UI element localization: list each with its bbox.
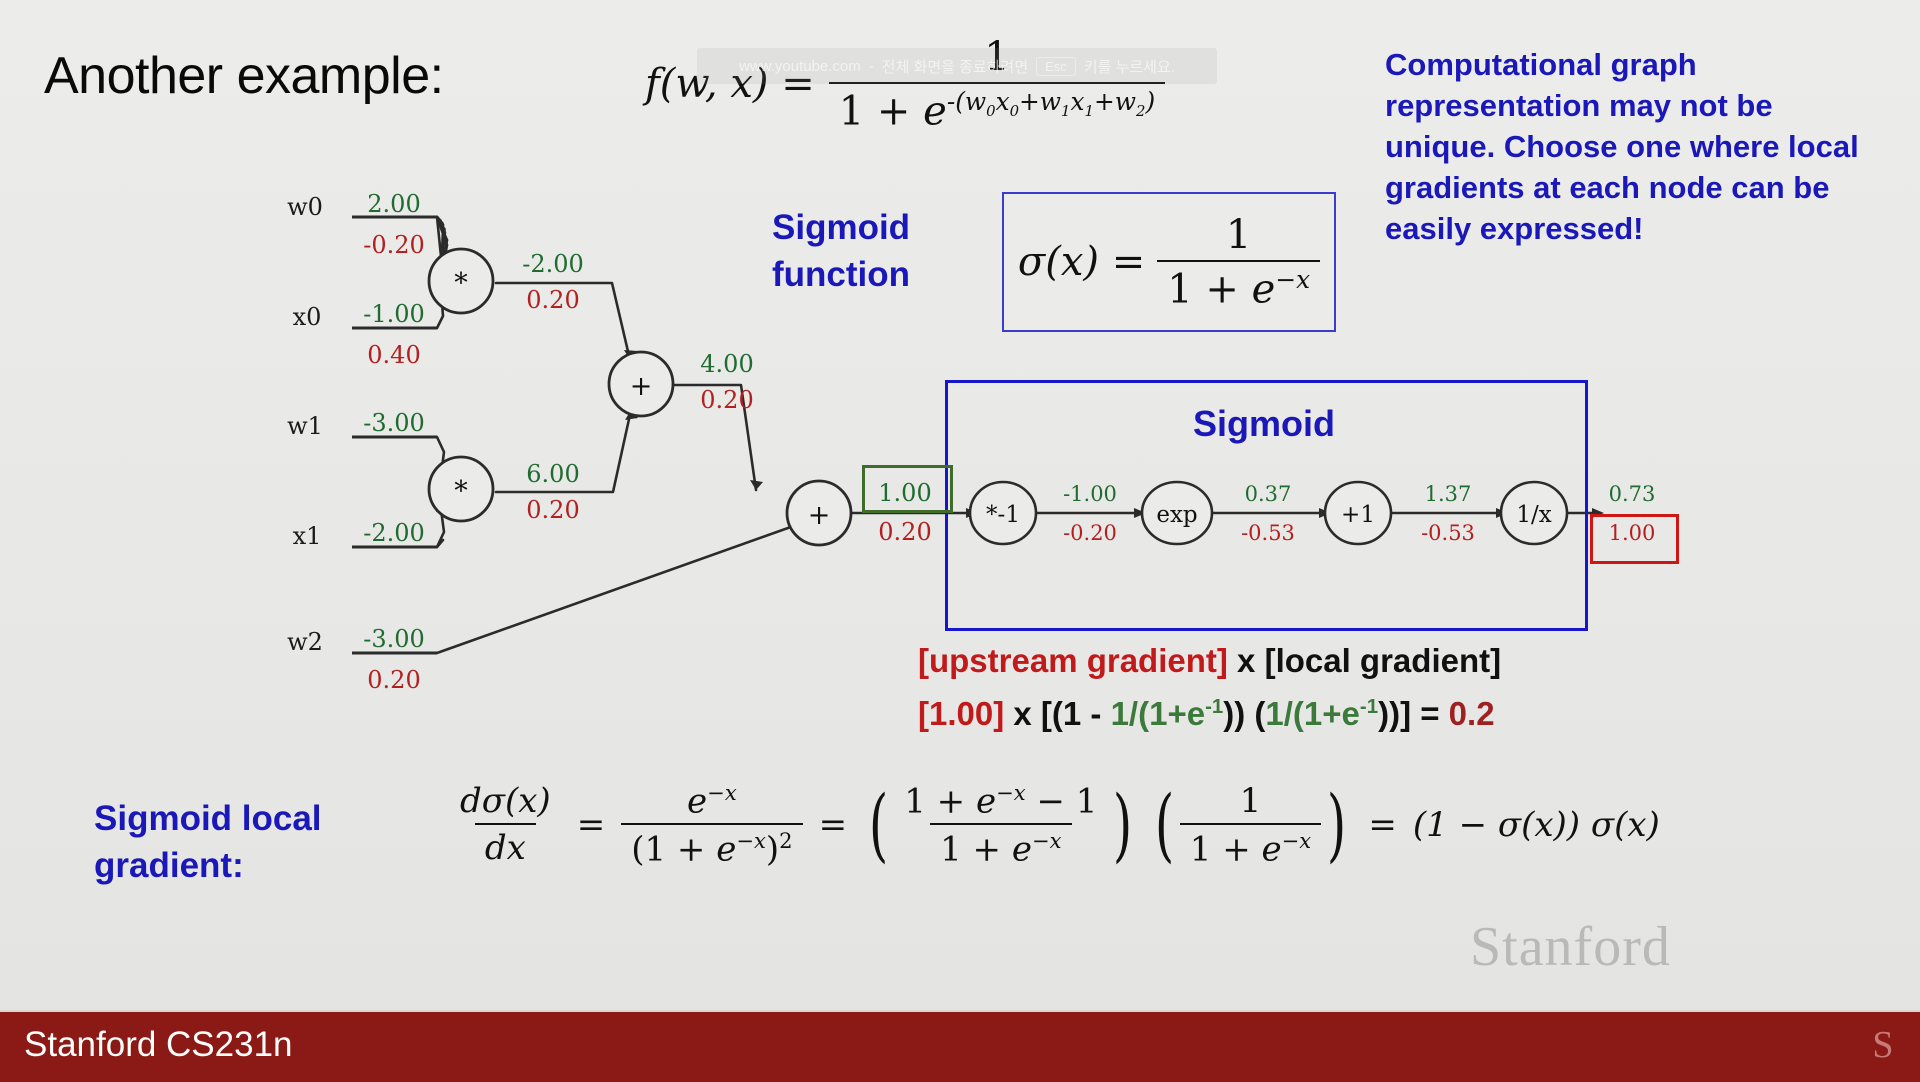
slg-lhs-num: dσ(x) xyxy=(450,781,561,823)
slg-eq-1: = xyxy=(577,805,606,845)
gradient-expr-close: ))] = xyxy=(1378,695,1449,732)
gradient-line1: [upstream gradient] x [local gradient] xyxy=(918,638,1748,684)
input-label-w0: w0 xyxy=(287,193,323,221)
footer-course-title: Stanford CS231n xyxy=(24,1025,293,1065)
slg-p1-den: 1 + e−x xyxy=(930,823,1071,869)
input-gradient-x0: 0.40 xyxy=(367,341,420,369)
slg-p2-num: 1 xyxy=(1230,781,1272,823)
gradient-times-1: x xyxy=(1228,642,1265,679)
node-add1-op: + xyxy=(808,500,831,531)
slg-paren-open-2: ( xyxy=(1155,793,1174,857)
upstream-gradient-label: [upstream gradient] xyxy=(918,642,1228,679)
highlight-box-green xyxy=(862,465,953,513)
local-term-2-sup: -1 xyxy=(1360,695,1378,718)
slg-p2-den: 1 + e−x xyxy=(1180,823,1321,869)
input-label-x0: x0 xyxy=(293,303,322,331)
node-mul1-op: * xyxy=(454,476,468,507)
edge-gradient-add0: 0.20 xyxy=(700,386,753,414)
gradient-line2: [1.00] x [(1 - 1/(1+e-1)) (1/(1+e-1))] =… xyxy=(918,684,1748,737)
sigmoid-local-gradient-label: Sigmoid local gradient: xyxy=(94,795,322,889)
slg-paren-open-1: ( xyxy=(869,793,888,857)
local-gradient-label: [local gradient] xyxy=(1265,642,1502,679)
slg-p1-num: 1 + e−x − 1 xyxy=(894,780,1107,823)
input-value-x1: -2.00 xyxy=(363,519,425,547)
edge-gradient-add1: 0.20 xyxy=(878,518,931,546)
node-mul0-op: * xyxy=(454,268,468,299)
slg-mid-num: e−x xyxy=(677,780,747,823)
stanford-logo-icon: S xyxy=(1870,1018,1896,1072)
slg-label-line1: Sigmoid local xyxy=(94,795,322,842)
stanford-wordmark: Stanford xyxy=(1470,915,1671,979)
slg-result: (1 − σ(x)) σ(x) xyxy=(1413,805,1660,845)
edge-value-mul0: -2.00 xyxy=(522,250,584,278)
slide-canvas: Another example: f(w, x) = 1 1 + e-(w0x0… xyxy=(0,0,1920,1010)
local-term-2-base: 1/(1+e xyxy=(1265,695,1360,732)
upstream-value: [1.00] xyxy=(918,695,1004,732)
input-label-x1: x1 xyxy=(293,522,322,550)
node-add0-op: + xyxy=(630,371,653,402)
edge-gradient-mul1: 0.20 xyxy=(526,496,579,524)
local-term-2: 1/(1+e-1 xyxy=(1265,695,1378,732)
input-value-w2: -3.00 xyxy=(363,625,425,653)
local-term-1-sup: -1 xyxy=(1205,695,1223,718)
sigmoid-local-gradient-formula: dσ(x) dx = e−x (1 + e−x)2 = ( 1 + e−x − … xyxy=(450,780,1660,870)
slg-paren-close-2: ) xyxy=(1327,793,1346,857)
gradient-expr-mid: )) ( xyxy=(1223,695,1265,732)
local-term-1-base: 1/(1+e xyxy=(1111,695,1206,732)
input-label-w1: w1 xyxy=(287,412,323,440)
local-term-1: 1/(1+e-1 xyxy=(1111,695,1224,732)
sigmoid-box-title: Sigmoid xyxy=(1193,403,1335,445)
edge-value-mul1: 6.00 xyxy=(526,460,579,488)
input-value-w0: 2.00 xyxy=(367,190,420,218)
gradient-explanation: [upstream gradient] x [local gradient] [… xyxy=(918,638,1748,737)
input-value-x0: -1.00 xyxy=(363,300,425,328)
slg-mid-den: (1 + e−x)2 xyxy=(621,823,802,869)
gradient-expr-open: x [(1 - xyxy=(1004,695,1110,732)
edge-gradient-mul0: 0.20 xyxy=(526,286,579,314)
input-label-w2: w2 xyxy=(287,628,323,656)
slg-eq-3: = xyxy=(1368,805,1397,845)
slg-eq-2: = xyxy=(819,805,848,845)
slg-lhs-den: dx xyxy=(475,823,536,868)
slg-paren-close-1: ) xyxy=(1113,793,1132,857)
gradient-result: 0.2 xyxy=(1449,695,1495,732)
input-gradient-w2: 0.20 xyxy=(367,666,420,694)
slg-label-line2: gradient: xyxy=(94,842,322,889)
highlight-box-red xyxy=(1590,514,1679,564)
edge-value-add0: 4.00 xyxy=(700,350,753,378)
input-value-w1: -3.00 xyxy=(363,409,425,437)
input-gradient-w0: -0.20 xyxy=(363,231,425,259)
edge-value-inv: 0.73 xyxy=(1609,482,1656,506)
